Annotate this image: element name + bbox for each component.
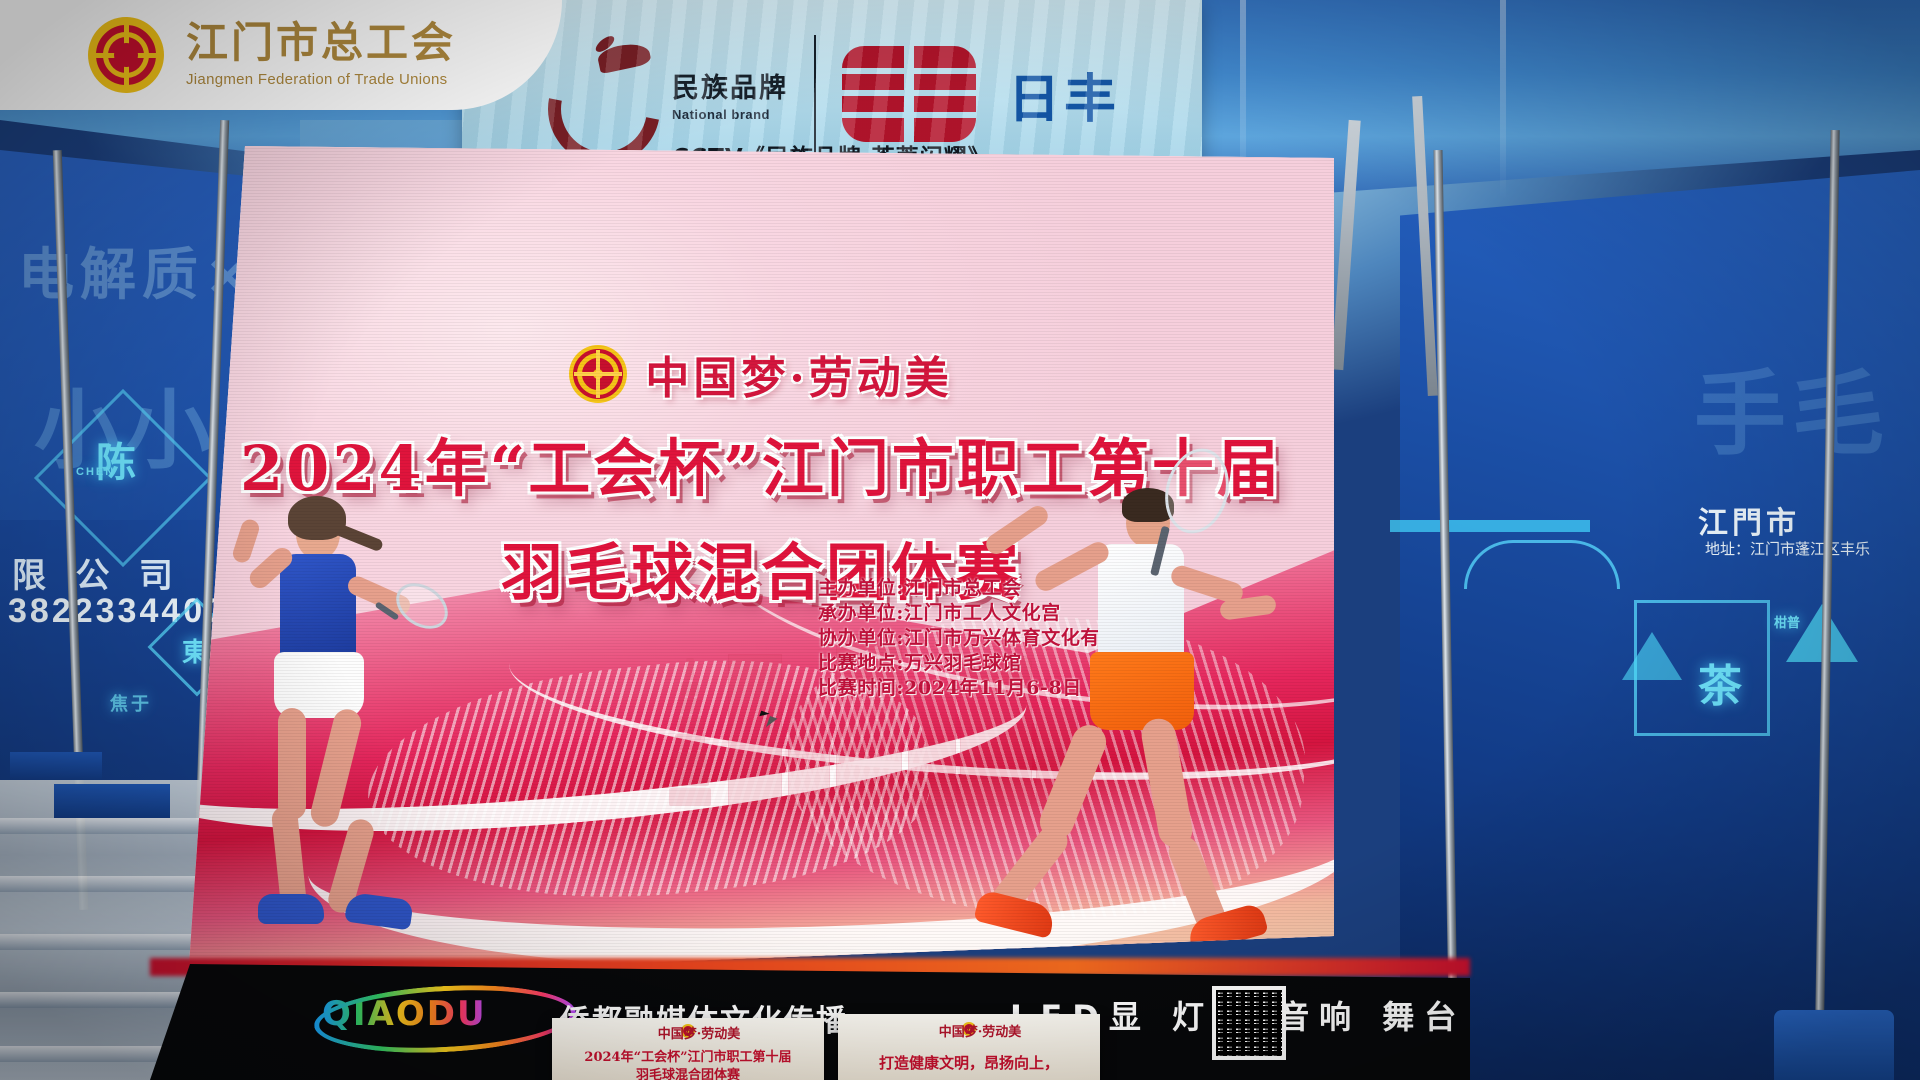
main-stage-led-board: 中国梦·劳动美 2024年“工会杯”江门市职工第十届 羽毛球混合团体赛 主办单位…: [188, 146, 1334, 980]
broadcast-logo-bug: 江门市总工会 Jiangmen Federation of Trade Unio…: [0, 0, 562, 110]
sign-2-line-1: 打造健康文明，昂扬向上，: [838, 1052, 1100, 1073]
right-banner-tea: 茶: [1698, 650, 1742, 714]
motto-text: 中国梦·劳动美: [645, 342, 952, 406]
right-banner-city: 江門市: [1698, 498, 1800, 542]
dragon-mark-icon: [544, 39, 656, 149]
sign-1-header: 中国梦·劳动美: [552, 1023, 824, 1042]
trade-union-emblem-icon: [88, 17, 164, 93]
right-banner-address: 地址：江门市蓬江区丰乐: [1705, 538, 1870, 559]
foreground-sign-1: 中国梦·劳动美 2024年“工会杯”江门市职工第十届 羽毛球混合团体赛: [552, 1018, 824, 1080]
racket-icon: [388, 574, 457, 638]
screenshot-root: 小小 陈 CHEN 限 公 司 3822334400 東 焦于 电解质× 手毛 …: [0, 0, 1920, 1080]
bridge-icon: [1464, 540, 1620, 589]
right-wall-ghost-glyph: 手毛: [1694, 340, 1890, 473]
left-banner-text-1: 限 公 司: [12, 548, 183, 597]
national-brand-cn: 民族品牌: [672, 66, 788, 105]
chair: [1774, 1010, 1894, 1080]
qr-code-icon: [1212, 986, 1286, 1060]
org-name-cn: 江门市总工会: [186, 22, 456, 64]
male-badminton-player-illustration: [970, 446, 1300, 946]
national-brand-en: National brand: [672, 107, 770, 122]
trade-union-emblem-icon: [569, 345, 627, 403]
qiaodu-logo: QIAODU: [322, 994, 487, 1034]
female-badminton-player-illustration: [218, 446, 468, 916]
motto-row: 中国梦·劳动美: [188, 342, 1334, 406]
sign-2-header: 中国梦·劳动美: [838, 1021, 1100, 1040]
org-name-en: Jiangmen Federation of Trade Unions: [186, 71, 456, 88]
vertical-divider-icon: [814, 35, 816, 153]
sponsor-name: 日丰: [1008, 57, 1120, 132]
rifeng-sun-mark-icon: [842, 46, 982, 142]
sign-1-line-2: 羽毛球混合团体赛: [552, 1064, 824, 1080]
foreground-sign-2: 中国梦·劳动美 打造健康文明，昂扬向上，: [838, 1014, 1100, 1080]
sign-1-line-1: 2024年“工会杯”江门市职工第十届: [552, 1046, 824, 1065]
left-banner-seal-en: CHEN: [76, 466, 115, 478]
left-banner-sub: 焦于: [110, 690, 152, 716]
